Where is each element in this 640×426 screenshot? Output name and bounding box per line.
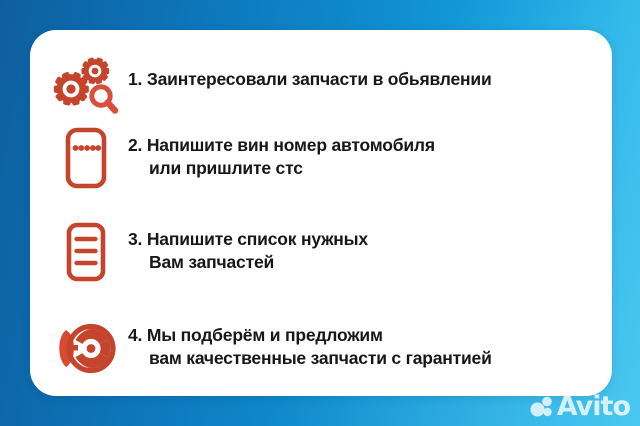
vin-plate-icon (44, 122, 128, 200)
step-text-3: 3. Напишите список нужных Вам запчастей (128, 218, 368, 274)
step-line-4a: 4. Мы подберём и предложим (128, 324, 492, 347)
avito-wordmark: Avito (557, 393, 630, 420)
poster-background: 1. Заинтересовали запчасти в обьявлении (0, 0, 640, 426)
step-text-1: 1. Заинтересовали запчасти в обьявлении (128, 48, 492, 91)
instructions-card: 1. Заинтересовали запчасти в обьявлении (30, 30, 612, 396)
step-line-1a: 1. Заинтересовали запчасти в обьявлении (128, 68, 492, 91)
step-line-4b: вам качественные запчасти с гарантией (128, 347, 492, 370)
step-item-1: 1. Заинтересовали запчасти в обьявлении (44, 48, 492, 122)
step-text-4: 4. Мы подберём и предложим вам качествен… (128, 312, 492, 370)
step-line-2a: 2. Напишите вин номер автомобиля (128, 134, 435, 157)
step-line-2b: или пришлите стс (128, 157, 435, 180)
step-item-3: 3. Напишите список нужных Вам запчастей (44, 218, 368, 296)
step-line-3a: 3. Напишите список нужных (128, 228, 368, 251)
gears-magnifier-icon (44, 48, 128, 122)
document-list-icon (44, 218, 128, 296)
step-line-3b: Вам запчастей (128, 251, 368, 274)
step-item-2: 2. Напишите вин номер автомобиля или при… (44, 122, 435, 200)
avito-watermark: Avito (530, 393, 630, 420)
brake-disc-icon (44, 312, 128, 386)
avito-logo-icon (530, 396, 554, 418)
step-item-4: 4. Мы подберём и предложим вам качествен… (44, 312, 492, 386)
step-text-2: 2. Напишите вин номер автомобиля или при… (128, 122, 435, 180)
